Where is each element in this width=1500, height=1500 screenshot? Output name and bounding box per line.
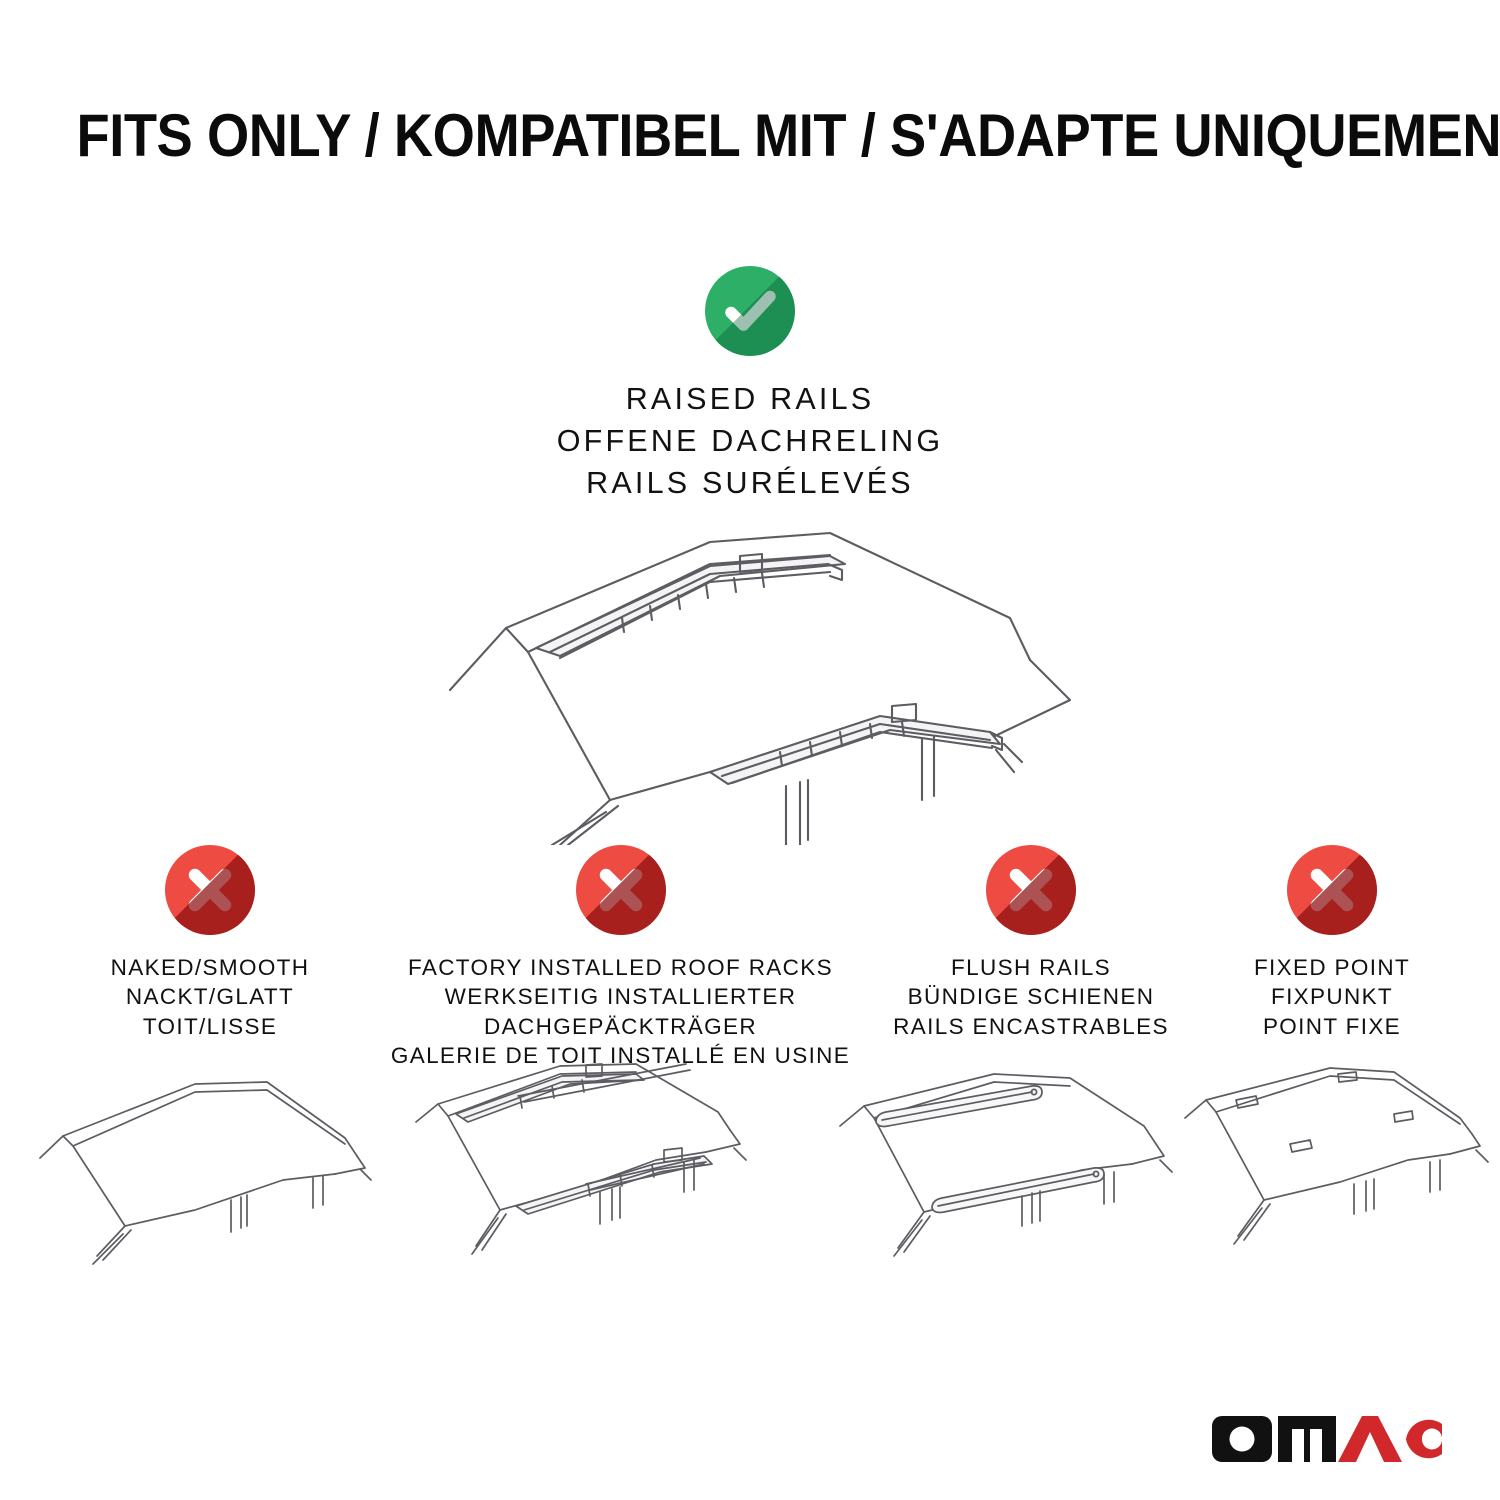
car-roof-raised-rails-illustration [410, 500, 1110, 845]
label-fr: POINT FIXE [1196, 1012, 1468, 1041]
label-de-line2: DACHGEPÄCKTRÄGER [378, 1012, 863, 1041]
page-title: FITS ONLY / KOMPATIBEL MIT / S'ADAPTE UN… [76, 104, 1500, 167]
omac-logo [1210, 1410, 1442, 1468]
incompatible-labels-factory-roof-racks: FACTORY INSTALLED ROOF RACKS WERKSEITIG … [378, 953, 863, 1070]
roof-illustrations-row [0, 1060, 1500, 1290]
label-fr: RAILS ENCASTRABLES [866, 1012, 1196, 1041]
x-circle-icon [165, 845, 255, 935]
header: FITS ONLY / KOMPATIBEL MIT / S'ADAPTE UN… [0, 104, 1500, 167]
label-en: NAKED/SMOOTH [45, 953, 375, 982]
compatible-label-de: OFFENE DACHRELING [0, 421, 1500, 463]
incompatible-labels-flush-rails: FLUSH RAILS BÜNDIGE SCHIENEN RAILS ENCAS… [866, 953, 1196, 1041]
car-roof-fixed-point-illustration [1180, 1060, 1500, 1285]
incompatible-section: NAKED/SMOOTH NACKT/GLATT TOIT/LISSE FACT… [0, 845, 1500, 1065]
compatible-label-fr: RAILS SURÉLEVÉS [0, 463, 1500, 505]
incompatible-labels-naked-smooth: NAKED/SMOOTH NACKT/GLATT TOIT/LISSE [45, 953, 375, 1041]
check-circle-icon [705, 266, 795, 356]
car-roof-factory-racks-illustration [400, 1060, 790, 1285]
label-en: FLUSH RAILS [866, 953, 1196, 982]
label-de: BÜNDIGE SCHIENEN [866, 982, 1196, 1011]
label-de-line1: WERKSEITIG INSTALLIERTER [378, 982, 863, 1011]
incompatible-item-fixed-point: FIXED POINT FIXPUNKT POINT FIXE [1196, 845, 1468, 1041]
incompatible-item-flush-rails: FLUSH RAILS BÜNDIGE SCHIENEN RAILS ENCAS… [866, 845, 1196, 1041]
incompatible-labels-fixed-point: FIXED POINT FIXPUNKT POINT FIXE [1196, 953, 1468, 1041]
incompatible-item-naked-smooth: NAKED/SMOOTH NACKT/GLATT TOIT/LISSE [45, 845, 375, 1041]
compatible-section: RAISED RAILS OFFENE DACHRELING RAILS SUR… [0, 266, 1500, 504]
x-circle-icon [986, 845, 1076, 935]
car-roof-flush-rails-illustration [832, 1060, 1217, 1285]
car-roof-naked-illustration [35, 1060, 410, 1285]
compatible-label-en: RAISED RAILS [0, 379, 1500, 421]
x-circle-icon [576, 845, 666, 935]
label-de: FIXPUNKT [1196, 982, 1468, 1011]
label-en: FACTORY INSTALLED ROOF RACKS [378, 953, 863, 982]
label-de: NACKT/GLATT [45, 982, 375, 1011]
compatible-labels: RAISED RAILS OFFENE DACHRELING RAILS SUR… [0, 379, 1500, 504]
incompatible-item-factory-roof-racks: FACTORY INSTALLED ROOF RACKS WERKSEITIG … [378, 845, 863, 1070]
label-en: FIXED POINT [1196, 953, 1468, 982]
x-circle-icon [1287, 845, 1377, 935]
label-fr: TOIT/LISSE [45, 1012, 375, 1041]
